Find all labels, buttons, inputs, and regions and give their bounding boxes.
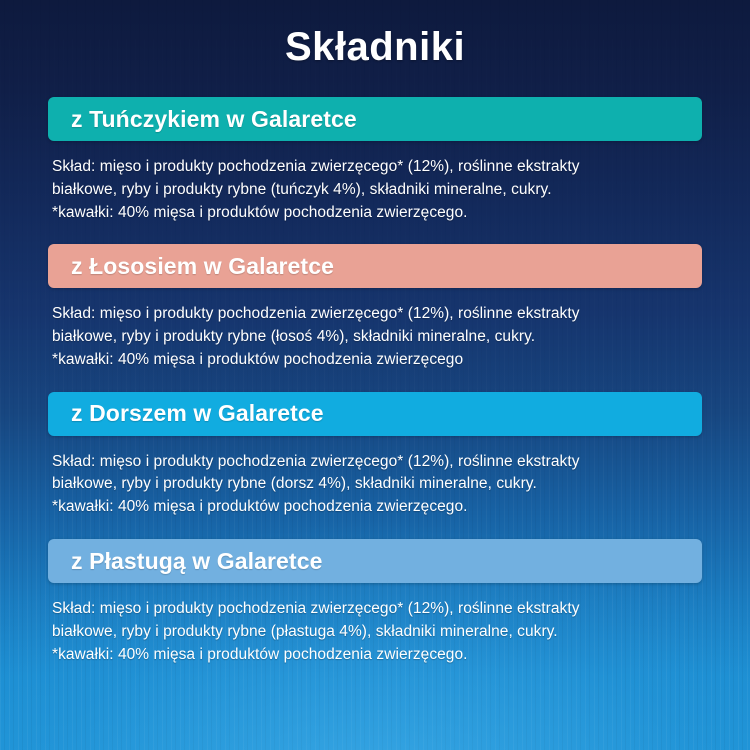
variant-body-salmon: Skład: mięso i produkty pochodzenia zwie… [48,288,702,371]
variant-section-salmon: z Łososiem w Galaretce Skład: mięso i pr… [48,244,702,371]
ingredients-footnote: *kawałki: 40% mięsa i produktów pochodze… [52,496,698,519]
ingredients-line-1: Skład: mięso i produkty pochodzenia zwie… [52,156,698,179]
variant-section-cod: z Dorszem w Galaretce Skład: mięso i pro… [48,392,702,519]
variant-banner-flounder: z Płastugą w Galaretce [48,539,702,583]
ingredients-line-1: Skład: mięso i produkty pochodzenia zwie… [52,598,698,621]
ingredients-line-1: Skład: mięso i produkty pochodzenia zwie… [52,303,698,326]
variant-banner-label-cod: z Dorszem w Galaretce [71,400,324,427]
variant-section-flounder: z Płastugą w Galaretce Skład: mięso i pr… [48,539,702,666]
variant-banner-label-tuna: z Tuńczykiem w Galaretce [71,106,357,133]
variant-banner-tuna: z Tuńczykiem w Galaretce [48,97,702,141]
variant-body-flounder: Skład: mięso i produkty pochodzenia zwie… [48,583,702,666]
ingredients-line-2: białkowe, ryby i produkty rybne (dorsz 4… [52,473,698,496]
ingredients-panel: Składniki z Tuńczykiem w Galaretce Skład… [0,0,750,750]
variant-banner-salmon: z Łososiem w Galaretce [48,244,702,288]
variant-banner-cod: z Dorszem w Galaretce [48,392,702,436]
ingredients-footnote: *kawałki: 40% mięsa i produktów pochodze… [52,202,698,225]
ingredients-line-2: białkowe, ryby i produkty rybne (łosoś 4… [52,326,698,349]
ingredients-footnote: *kawałki: 40% mięsa i produktów pochodze… [52,349,698,372]
page-title: Składniki [48,0,702,67]
ingredients-line-2: białkowe, ryby i produkty rybne (płastug… [52,621,698,644]
ingredients-line-2: białkowe, ryby i produkty rybne (tuńczyk… [52,179,698,202]
variant-banner-label-salmon: z Łososiem w Galaretce [71,253,334,280]
variant-body-cod: Skład: mięso i produkty pochodzenia zwie… [48,436,702,519]
variant-body-tuna: Skład: mięso i produkty pochodzenia zwie… [48,141,702,224]
variant-banner-label-flounder: z Płastugą w Galaretce [71,548,322,575]
variant-section-tuna: z Tuńczykiem w Galaretce Skład: mięso i … [48,97,702,224]
ingredients-line-1: Skład: mięso i produkty pochodzenia zwie… [52,451,698,474]
ingredients-footnote: *kawałki: 40% mięsa i produktów pochodze… [52,644,698,667]
